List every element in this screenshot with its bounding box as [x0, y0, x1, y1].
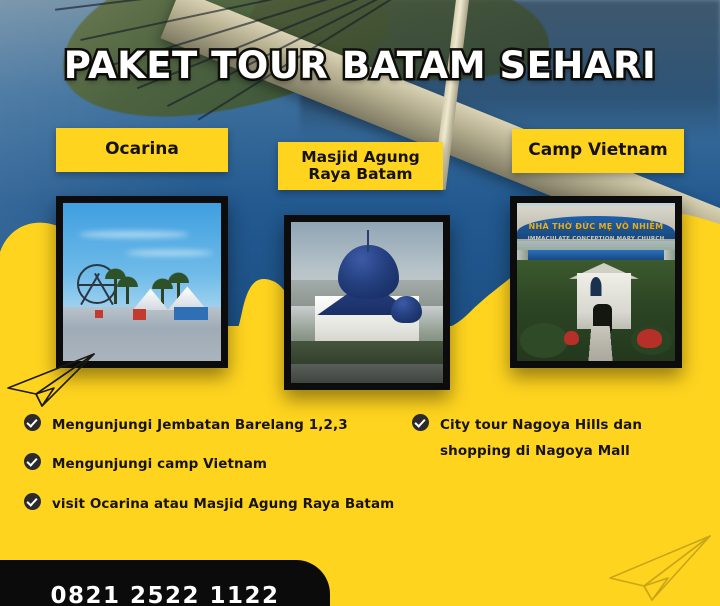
- contact-bar[interactable]: 0821 2522 1122: [0, 560, 330, 606]
- page-title: PAKET TOUR BATAM SEHARI: [0, 44, 720, 87]
- paper-plane-icon: [2, 348, 98, 410]
- photo-masjid: [291, 222, 443, 383]
- red-flowers: [637, 329, 662, 348]
- stall: [95, 310, 103, 318]
- poster: PAKET TOUR BATAM SEHARI Ocarina Masjid A…: [0, 0, 720, 606]
- features-right-list: City tour Nagoya Hills dan shopping di N…: [412, 412, 702, 478]
- bush: [520, 323, 567, 358]
- mosque-spire: [367, 230, 369, 252]
- list-item: Mengunjungi Jembatan Barelang 1,2,3: [24, 412, 414, 438]
- label-ocarina: Ocarina: [56, 128, 228, 172]
- stall: [133, 309, 146, 320]
- palm-tree: [161, 284, 164, 304]
- photo-card-ocarina[interactable]: [56, 196, 228, 368]
- photo-card-masjid[interactable]: [284, 215, 450, 390]
- check-icon: [24, 453, 41, 470]
- list-item: City tour Nagoya Hills dan shopping di N…: [412, 412, 702, 465]
- church-statue-niche: [590, 277, 601, 296]
- feature-text: Mengunjungi camp Vietnam: [52, 451, 267, 477]
- label-masjid: Masjid Agung Raya Batam: [278, 142, 443, 190]
- feature-text: Mengunjungi Jembatan Barelang 1,2,3: [52, 412, 348, 438]
- check-icon: [412, 414, 429, 431]
- list-item: Mengunjungi camp Vietnam: [24, 451, 414, 477]
- photo-ocarina: [63, 203, 221, 361]
- phone-number: 0821 2522 1122: [50, 583, 279, 606]
- check-icon: [24, 414, 41, 431]
- camp-sign-vietnamese: NHÀ THỜ ĐỨC MẸ VÔ NHIỄM: [523, 220, 668, 233]
- mosque-small-dome: [391, 296, 421, 323]
- stall: [174, 307, 208, 320]
- label-camp-vietnam: Camp Vietnam: [512, 129, 684, 173]
- camp-sign-english: IMMACULATE CONCEPTION MARY CHURCH: [523, 234, 668, 243]
- features-left-list: Mengunjungi Jembatan Barelang 1,2,3 Meng…: [24, 412, 414, 530]
- red-flowers: [564, 331, 578, 345]
- list-item: visit Ocarina atau Masjid Agung Raya Bat…: [24, 491, 414, 517]
- palm-tree: [126, 282, 129, 304]
- photo-card-camp-vietnam[interactable]: NHÀ THỜ ĐỨC MẸ VÔ NHIỄM IMMACULATE CONCE…: [510, 196, 682, 368]
- feature-text: visit Ocarina atau Masjid Agung Raya Bat…: [52, 491, 394, 517]
- photo-camp-vietnam: NHÀ THỜ ĐỨC MẸ VÔ NHIỄM IMMACULATE CONCE…: [517, 203, 675, 361]
- check-icon: [24, 493, 41, 510]
- feature-text: City tour Nagoya Hills dan shopping di N…: [440, 412, 702, 465]
- church-path: [588, 326, 612, 361]
- paper-plane-icon: [604, 532, 714, 602]
- masjid-road: [291, 364, 443, 383]
